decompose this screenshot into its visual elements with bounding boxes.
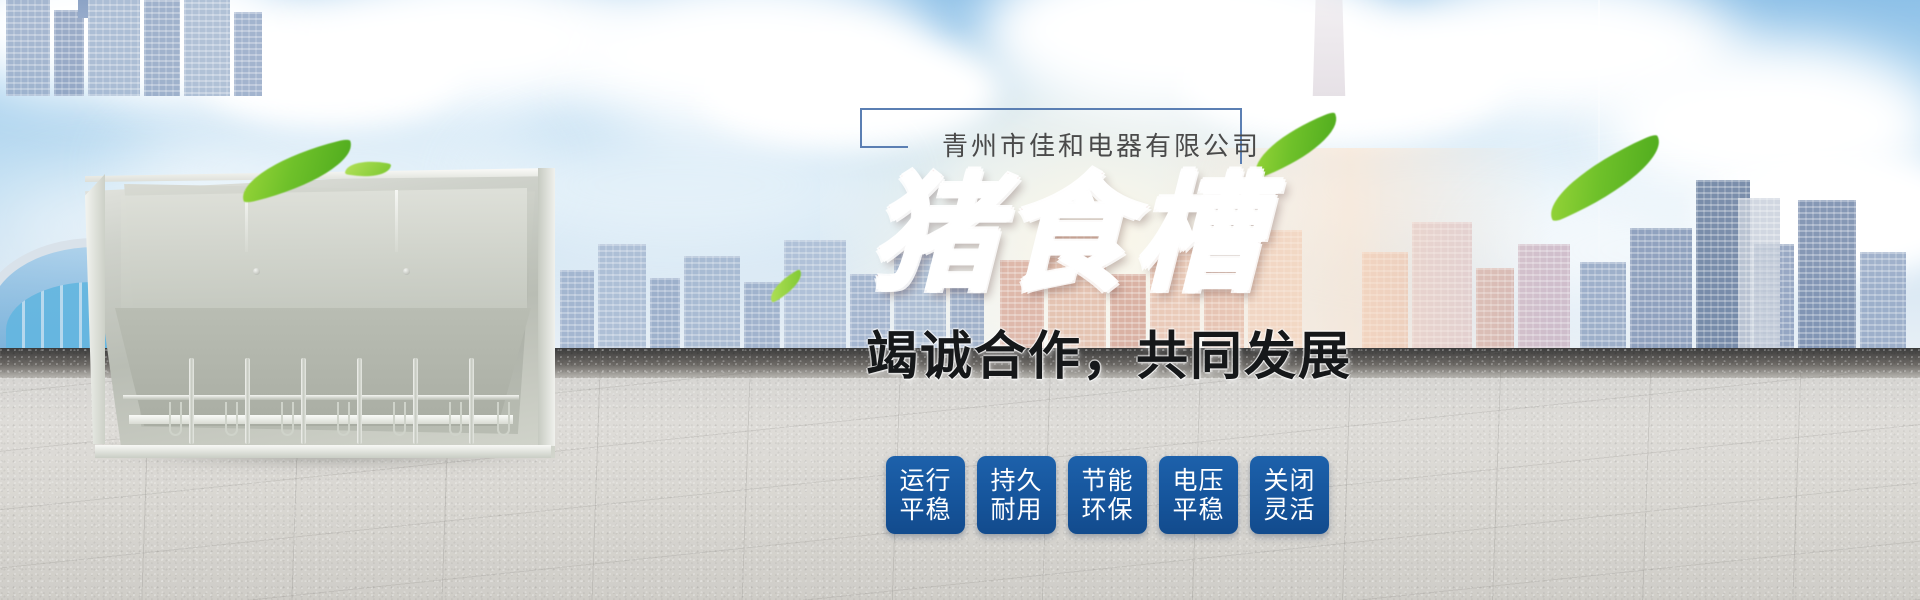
left-skyline-cluster xyxy=(0,0,260,96)
trough-rim-bottom xyxy=(95,445,551,458)
feature-badge[interactable]: 关闭 灵活 xyxy=(1250,456,1329,534)
company-name: 青州市佳和电器有限公司 xyxy=(942,126,1261,163)
trough-divider xyxy=(189,358,194,444)
product-image-pig-feeder-trough xyxy=(85,168,555,458)
trough-seam xyxy=(395,190,398,252)
badge-line-2: 耐用 xyxy=(990,495,1042,525)
trough-divider xyxy=(469,358,474,444)
promo-banner: 青州市佳和电器有限公司 猪食槽 竭诚合作，共同发展 运行 平稳 持久 耐用 节能… xyxy=(0,0,1920,600)
trough-drinker-hook xyxy=(393,402,406,436)
badge-line-1: 节能 xyxy=(1081,466,1133,496)
trough-back-wall xyxy=(121,188,527,316)
feature-badge[interactable]: 运行 平稳 xyxy=(886,456,965,534)
trough-drinker-hook xyxy=(225,402,238,436)
badge-line-2: 灵活 xyxy=(1263,495,1315,525)
trough-rivet xyxy=(403,268,410,275)
trough-divider xyxy=(413,358,418,444)
trough-rail-upper xyxy=(123,395,519,400)
feature-badge[interactable]: 持久 耐用 xyxy=(977,456,1056,534)
trough-drinker-hook xyxy=(281,402,294,436)
badge-line-2: 环保 xyxy=(1081,495,1133,525)
page-title: 猪食槽 xyxy=(870,170,1266,298)
trough-drinker-hook xyxy=(497,402,510,436)
badge-line-2: 平稳 xyxy=(899,495,951,525)
feature-badge[interactable]: 电压 平稳 xyxy=(1159,456,1238,534)
trough-drinker-hook xyxy=(449,402,462,436)
trough-rivet xyxy=(253,268,260,275)
badge-line-1: 运行 xyxy=(899,466,951,496)
badge-line-1: 关闭 xyxy=(1263,466,1315,496)
badge-line-1: 电压 xyxy=(1172,466,1224,496)
trough-divider xyxy=(245,358,250,444)
feature-badge[interactable]: 节能 环保 xyxy=(1068,456,1147,534)
page-subtitle: 竭诚合作，共同发展 xyxy=(866,314,1352,389)
trough-divider xyxy=(357,358,362,444)
feature-badge-list: 运行 平稳 持久 耐用 节能 环保 电压 平稳 关闭 灵活 xyxy=(886,456,1329,534)
trough-rim-right xyxy=(538,168,555,446)
badge-line-1: 持久 xyxy=(990,466,1042,496)
trough-divider xyxy=(301,358,306,444)
badge-line-2: 平稳 xyxy=(1172,495,1224,525)
trough-drinker-hook xyxy=(169,402,182,436)
trough-drinker-hook xyxy=(337,402,350,436)
tv-tower xyxy=(78,0,88,18)
trough-rim-left xyxy=(85,174,105,444)
